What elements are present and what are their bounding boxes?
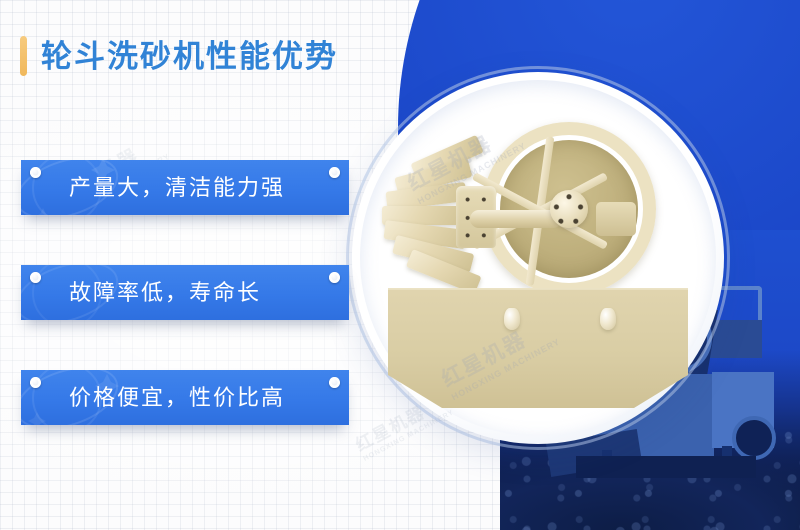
page-title: 轮斗洗砂机性能优势 bbox=[20, 36, 338, 76]
rivet-right bbox=[329, 167, 340, 178]
tank-hook-left bbox=[504, 308, 520, 330]
rivet-right bbox=[329, 272, 340, 283]
drive-shaft bbox=[470, 210, 562, 228]
sand-washer-illustration bbox=[382, 118, 692, 408]
gear-reducer bbox=[596, 202, 636, 236]
feature-list: 产量大，清洁能力强 故障率低，寿命长 价格便宜，性价比高 bbox=[21, 160, 349, 425]
rivet-right bbox=[329, 377, 340, 388]
bucket-wheel-assembly bbox=[418, 118, 662, 303]
feature-banner-3[interactable]: 价格便宜，性价比高 bbox=[21, 370, 349, 425]
tank-hook-right bbox=[600, 308, 616, 330]
photo-base-frame bbox=[576, 456, 756, 478]
feature-banner-1[interactable]: 产量大，清洁能力强 bbox=[21, 160, 349, 215]
page-title-text: 轮斗洗砂机性能优势 bbox=[41, 41, 338, 72]
photo-drive-wheel bbox=[732, 416, 776, 460]
washing-tank bbox=[388, 290, 688, 408]
hub-bolts bbox=[552, 192, 586, 226]
title-accent-bar bbox=[20, 36, 27, 76]
feature-label: 价格便宜，性价比高 bbox=[21, 387, 285, 409]
feature-label: 故障率低，寿命长 bbox=[21, 282, 261, 304]
feature-label: 产量大，清洁能力强 bbox=[21, 177, 285, 199]
promo-banner-canvas: 红星机器 HONGXING MACHINERY bbox=[0, 0, 800, 530]
feature-banner-2[interactable]: 故障率低，寿命长 bbox=[21, 265, 349, 320]
